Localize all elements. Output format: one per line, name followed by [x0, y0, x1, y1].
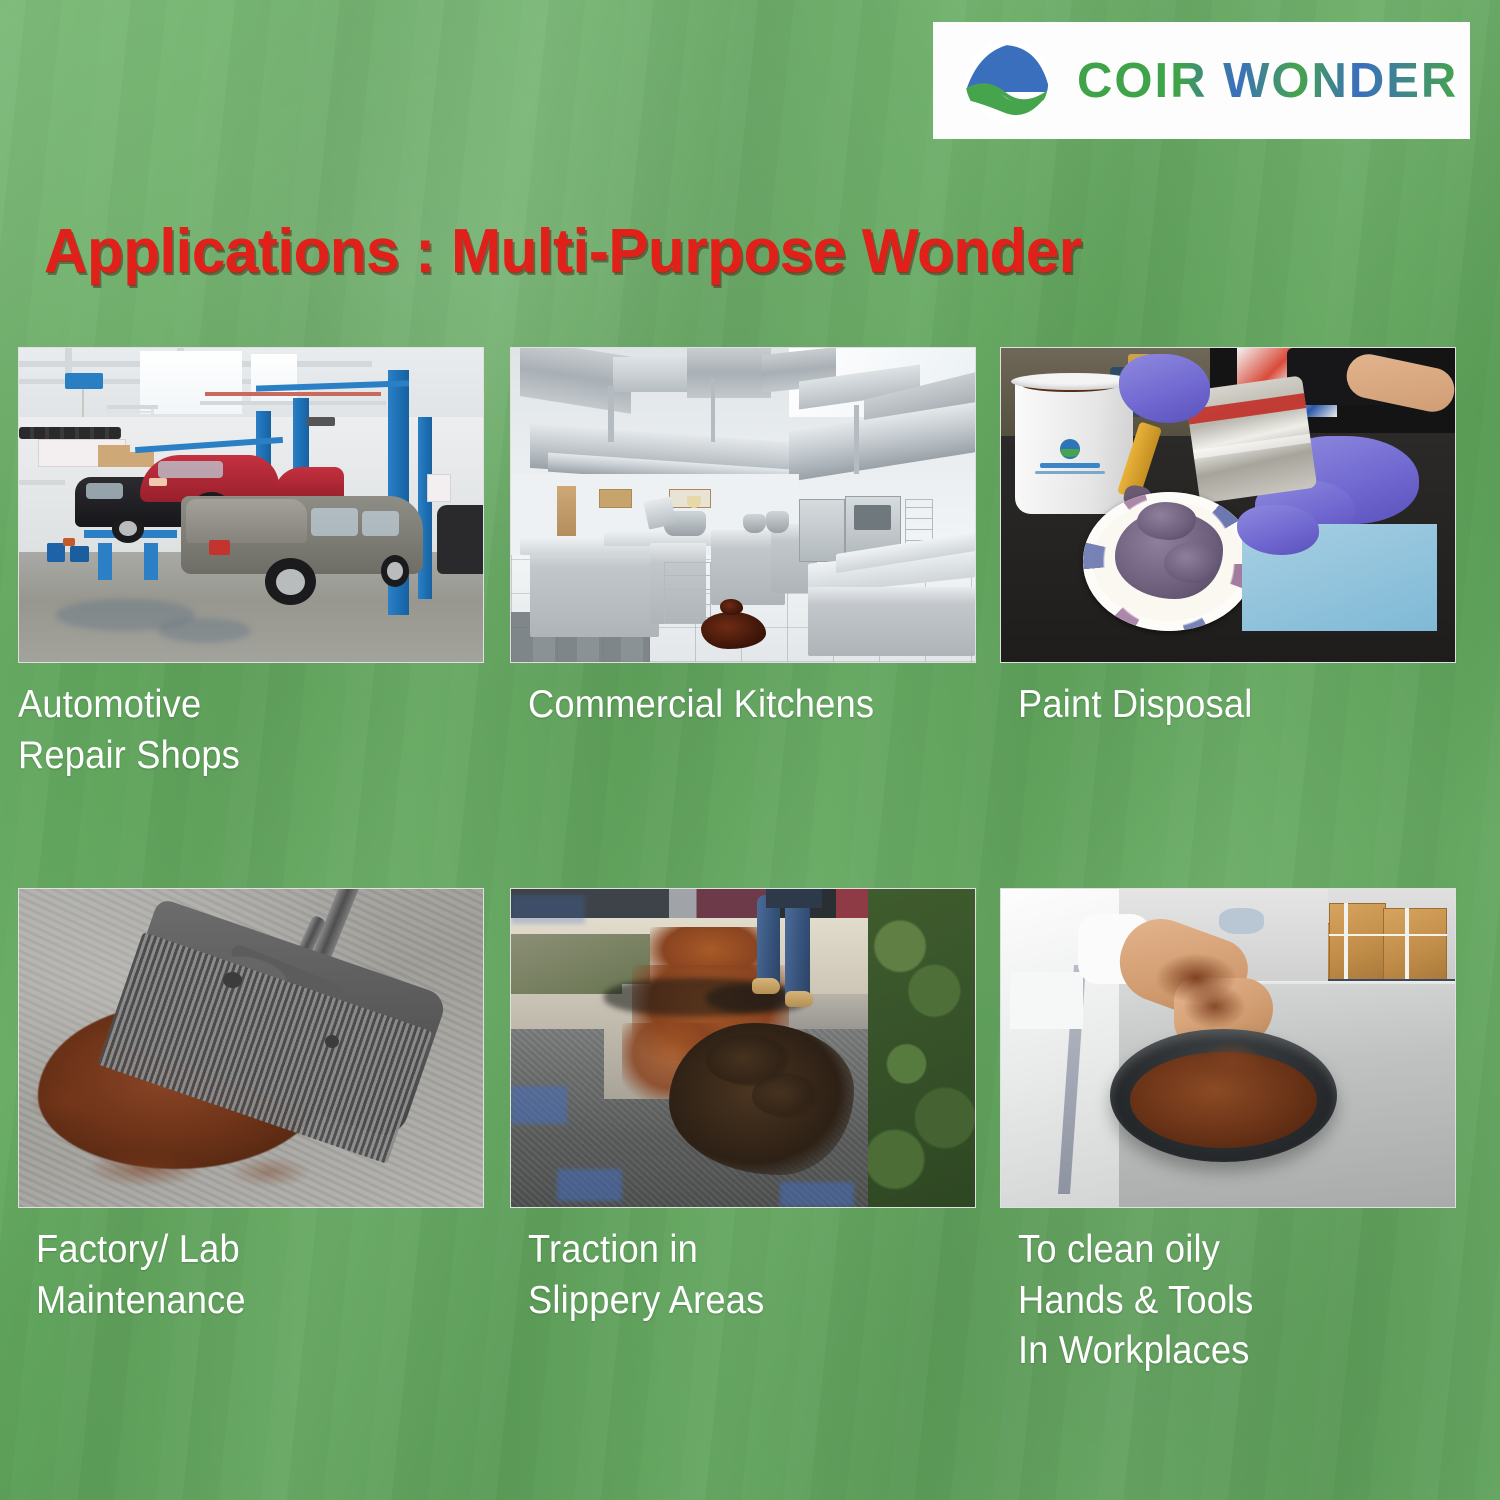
caption-automotive-repair-shops: Automotive Repair Shops — [18, 680, 451, 781]
page-title: Applications : Multi-Purpose Wonder — [44, 216, 1082, 287]
caption-paint-disposal: Paint Disposal — [1018, 680, 1425, 731]
coir-wonder-circle-leaf-logo — [961, 35, 1053, 127]
application-card-clean-oily-hands-tools: To clean oily Hands & Tools In Workplace… — [1000, 888, 1456, 1377]
caption-traction-slippery-areas: Traction in Slippery Areas — [528, 1225, 945, 1326]
brand-name: COIR WONDER — [1077, 53, 1458, 109]
factory-lab-maintenance-image — [18, 888, 484, 1208]
clean-oily-hands-tools-image — [1000, 888, 1456, 1208]
application-card-traction-slippery-areas: Traction in Slippery Areas — [510, 888, 976, 1326]
application-card-paint-disposal: Paint Disposal — [1000, 347, 1456, 731]
caption-commercial-kitchens: Commercial Kitchens — [528, 680, 945, 731]
paint-disposal-image — [1000, 347, 1456, 663]
application-card-automotive-repair-shops: Automotive Repair Shops — [18, 347, 484, 781]
automotive-repair-shop-image — [18, 347, 484, 663]
caption-factory-lab-maintenance: Factory/ Lab Maintenance — [36, 1225, 453, 1326]
caption-clean-oily-hands-tools: To clean oily Hands & Tools In Workplace… — [1018, 1225, 1425, 1377]
brand-logo: COIR WONDER — [933, 22, 1470, 139]
application-card-commercial-kitchens: Commercial Kitchens — [510, 347, 976, 731]
application-card-factory-lab-maintenance: Factory/ Lab Maintenance — [18, 888, 484, 1326]
traction-slippery-areas-image — [510, 888, 976, 1208]
commercial-kitchen-image — [510, 347, 976, 663]
